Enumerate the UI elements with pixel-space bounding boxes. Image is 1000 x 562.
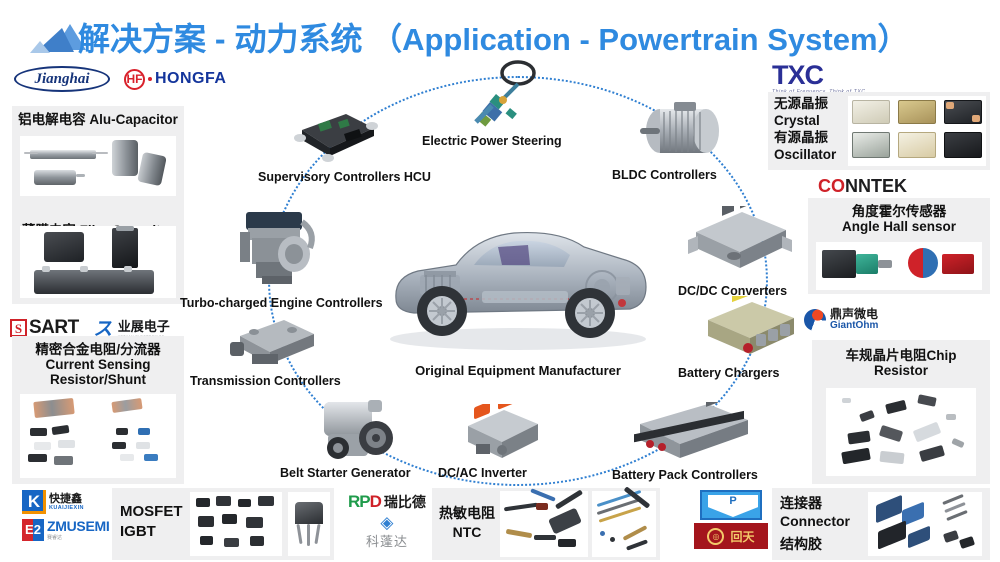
alu-capacitor-photo [20,136,176,196]
steering-column-assembly-icon [470,60,540,136]
giantohm-wordmark-en: GiantOhm [830,321,878,332]
node-electric-power-steering-label: Electric Power Steering [422,134,562,148]
dcac-inverter-icon [458,404,546,468]
connector-brand-logo: P [700,490,762,520]
kepengda-wordmark: 科蓬达 [366,531,408,550]
connector-brand-shield: P [708,495,758,517]
ntc-photo-a [500,491,588,557]
node-turbo-charged-engine-controllers-label: Turbo-charged Engine Controllers [180,296,383,310]
ntc-photo-b [592,491,656,557]
sart-mark: S [10,319,27,337]
node-belt-starter-generator-label: Belt Starter Generator [280,466,411,480]
chip-resistor-caption-line2: Resistor [812,363,990,378]
zmusemi-mark: E2 [22,519,44,541]
conntek-wordmark-dark: NNTEK [845,176,907,196]
current-sensing-photo [20,394,176,478]
kuaijiexin-mark: K [22,490,46,514]
title-bar: 解决方案 - 动力系统 （Application - Powertrain Sy… [0,8,1000,60]
current-sensing-caption-line3: Resistor/Shunt [12,372,184,387]
page-title: 解决方案 - 动力系统 （Application - Powertrain Sy… [78,14,909,60]
yezhan-wordmark: 业展电子 [118,316,170,335]
adhesive-brand-wordmark: 回天 [730,528,754,545]
center-label: Original Equipment Manufacturer [378,363,658,378]
capacitor-logo-row: Jianghai HF HONGFA [14,66,226,92]
crystal-photo [848,96,986,166]
cutaway-car-illustration [378,203,658,353]
mosfet-caption-line1: MOSFET [120,502,183,522]
kepengda-logo: ◈ 科蓬达 [366,514,408,550]
mosfet-panel: MOSFET IGBT [112,488,334,560]
connector-logo-row: P ◎ 回天 [694,490,768,549]
hongfa-mark: HF [124,69,145,90]
ntc-caption-line2: NTC [438,523,496,542]
adhesive-brand-logo: ◎ 回天 [694,523,768,549]
ntc-panel: 热敏电阻 NTC [432,488,660,560]
zmusemi-logo: E2 ZMUSEMI 赛睿达 [22,518,109,541]
hall-logo-row: CONNTEK [818,176,907,197]
page-title-cn: 解决方案 - 动力系统 [78,21,362,57]
conntek-wordmark-red: CO [818,176,845,196]
node-supervisory-controllers-hcu-label: Supervisory Controllers HCU [258,170,431,184]
conntek-logo: CONNTEK [818,176,907,197]
node-transmission-controllers-label: Transmission Controllers [190,374,341,388]
chip-resistor-caption-line1: 车规晶片电阻Chip [812,348,990,363]
kepengda-mark: ◈ [366,514,408,531]
connector-caption-line2: Connector [780,512,850,530]
giantohm-wordmark-cn: 鼎声微电 [830,308,878,321]
battery-pack-icon [626,402,754,468]
hall-sensor-panel: 角度霍尔传感器 Angle Hall sensor [808,198,990,294]
mosfet-photo [190,492,282,556]
mosfet-logo-row: K 快捷鑫 KUAIJIEXIN E2 ZMUSEMI 赛睿达 [22,490,109,541]
chip-resistor-panel: 车规晶片电阻Chip Resistor [812,340,990,484]
dcdc-converter-housing-icon [682,206,792,280]
film-capacitor-photo [20,226,176,298]
hongfa-dot [148,77,152,81]
ecu-module-dark-icon [292,108,380,162]
powertrain-diagram: Supervisory Controllers HCU Electric Pow… [200,58,820,498]
current-sensing-panel: 精密合金电阻/分流器 Current Sensing Resistor/Shun… [12,336,184,484]
adhesive-brand-mark: ◎ [707,528,724,545]
kuaijiexin-logo: K 快捷鑫 KUAIJIEXIN [22,490,84,514]
page-title-en: （Application - Powertrain System） [371,22,908,57]
hall-caption-line1: 角度霍尔传感器 [808,204,990,219]
node-bldc-controllers-label: BLDC Controllers [612,168,717,182]
jianghai-logo: Jianghai [14,66,110,92]
current-sensing-caption-line2: Current Sensing [12,357,184,372]
hall-caption-line2: Angle Hall sensor [808,219,990,234]
kuaijiexin-wordmark-en: KUAIJIEXIN [49,505,84,511]
node-battery-chargers-label: Battery Chargers [678,366,779,380]
node-battery-pack-controllers-label: Battery Pack Controllers [612,468,758,482]
transmission-ecu-icon [226,316,320,374]
belt-starter-generator-icon [310,394,402,466]
rpd-wordmark-cn: 瑞比德 [384,492,426,512]
bldc-motor-icon [630,102,726,160]
adhesive-caption-line1: 结构胶 [780,534,822,554]
mosfet-caption-line2: IGBT [120,522,183,542]
ntc-caption-line1: 热敏电阻 [438,504,496,523]
capacitor-panel: 铝电解电容 Alu-Capacitor 薄膜电容 Film-Capacitor [12,106,184,304]
connector-caption-line1: 连接器 [780,494,850,512]
slide-canvas: 解决方案 - 动力系统 （Application - Powertrain Sy… [0,0,1000,562]
ntc-logo-row: RPD 瑞比德 ◈ 科蓬达 [348,492,426,550]
igbt-photo [288,492,330,556]
connector-panel: 连接器 Connector 结构胶 [772,488,990,560]
rpd-wordmark-en: RPD [348,492,381,512]
rpd-logo: RPD 瑞比德 [348,492,426,512]
zmusemi-wordmark: ZMUSEMI [47,518,109,534]
hall-sensor-photo [816,242,982,290]
current-sensing-caption-line1: 精密合金电阻/分流器 [12,342,184,357]
kuaijiexin-wordmark-cn: 快捷鑫 [49,494,84,505]
chip-resistor-photo [826,388,976,476]
alu-capacitor-caption: 铝电解电容 Alu-Capacitor [12,112,184,127]
zmusemi-sub: 赛睿达 [47,534,109,541]
node-dcac-inverter-label: DC/AC Inverter [438,466,527,480]
connector-photo [868,492,982,556]
turbo-engine-icon [232,202,324,288]
onboard-charger-icon [696,296,802,364]
